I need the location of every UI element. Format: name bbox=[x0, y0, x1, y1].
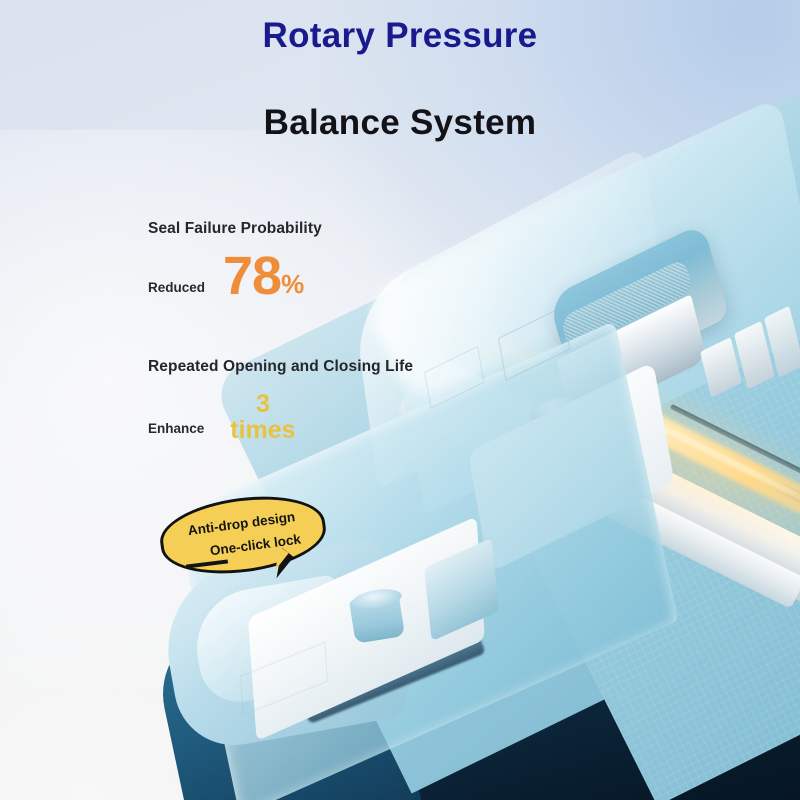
stat-unit: % bbox=[281, 271, 304, 302]
stat-title: Seal Failure Probability bbox=[148, 220, 322, 238]
stat-value-row: Reduced 78 % bbox=[148, 252, 322, 302]
stat-block-opening-life: Repeated Opening and Closing Life Enhanc… bbox=[148, 358, 413, 443]
stat-value-row: Enhance 3 times bbox=[148, 392, 413, 443]
stat-prefix: Enhance bbox=[148, 422, 204, 444]
stat-value: 78 bbox=[223, 252, 281, 302]
headline-line-1: Rotary Pressure bbox=[0, 18, 800, 53]
stat-value: 3 bbox=[230, 392, 295, 418]
stat-value-group: 3 times bbox=[230, 392, 295, 443]
headline-line-2: Balance System bbox=[0, 105, 800, 140]
stat-block-seal-failure: Seal Failure Probability Reduced 78 % bbox=[148, 220, 322, 302]
stat-title: Repeated Opening and Closing Life bbox=[148, 358, 413, 376]
stat-unit: times bbox=[230, 418, 295, 444]
headline-group: Rotary Pressure Balance System bbox=[0, 18, 800, 140]
callout-line-2: One-click lock bbox=[209, 532, 302, 557]
product-feature-poster: Rotary Pressure Balance System Seal Fail… bbox=[0, 0, 800, 800]
stat-prefix: Reduced bbox=[148, 281, 205, 302]
